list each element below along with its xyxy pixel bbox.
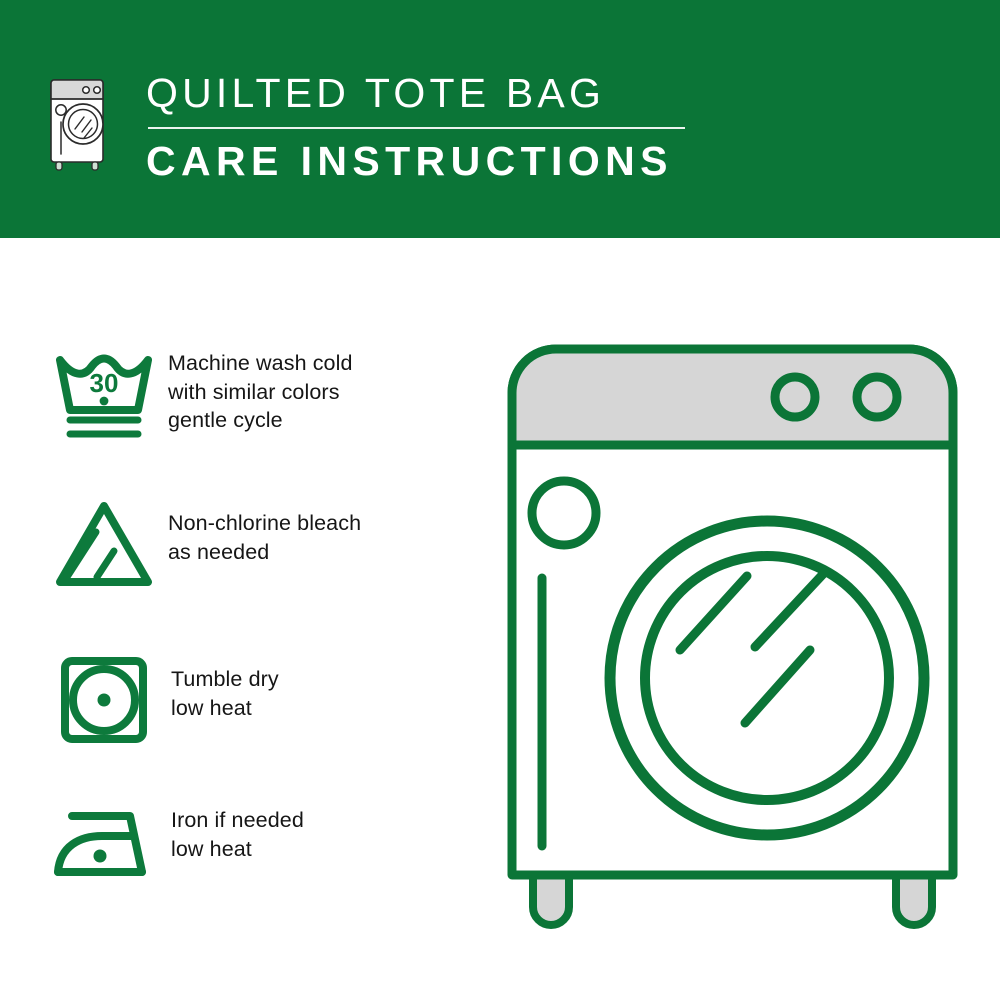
care-line: Machine wash cold — [168, 349, 353, 378]
machine-power-button — [532, 481, 596, 545]
care-label-tumble-dry: Tumble dry low heat — [171, 652, 279, 722]
care-label-iron: Iron if needed low heat — [171, 794, 304, 863]
non-chlorine-bleach-icon — [50, 496, 165, 592]
care-row-tumble-dry: Tumble dry low heat — [50, 652, 470, 748]
care-line: Non-chlorine bleach — [168, 509, 361, 538]
care-line: low heat — [171, 835, 304, 864]
page-subtitle: CARE INSTRUCTIONS — [146, 137, 706, 185]
care-row-machine-wash: 30 Machine wash cold with similar colors… — [50, 348, 470, 444]
machine-door-inner — [645, 556, 889, 800]
care-line: as needed — [168, 538, 361, 567]
care-line: with similar colors — [168, 378, 353, 407]
iron-low-heat-icon — [50, 794, 165, 890]
washing-machine-icon — [44, 66, 110, 174]
care-line: gentle cycle — [168, 406, 353, 435]
page-title: QUILTED TOTE BAG — [146, 68, 706, 118]
care-line: Tumble dry — [171, 665, 279, 694]
header-text-block: QUILTED TOTE BAG CARE INSTRUCTIONS — [146, 68, 706, 185]
header-band: QUILTED TOTE BAG CARE INSTRUCTIONS — [0, 0, 1000, 238]
machine-knob-2 — [857, 377, 897, 417]
wash-temperature-value: 30 — [90, 368, 119, 398]
care-line: low heat — [171, 694, 279, 723]
care-line: Iron if needed — [171, 806, 304, 835]
care-label-machine-wash: Machine wash cold with similar colors ge… — [168, 348, 353, 435]
title-divider — [148, 127, 685, 129]
care-row-iron: Iron if needed low heat — [50, 794, 470, 890]
care-instruction-list: 30 Machine wash cold with similar colors… — [0, 238, 470, 1000]
tumble-dry-low-heat-icon — [50, 652, 165, 748]
machine-knob-1 — [775, 377, 815, 417]
care-instructions-infographic: QUILTED TOTE BAG CARE INSTRUCTIONS 30 — [0, 0, 1000, 1000]
care-row-bleach: Non-chlorine bleach as needed — [50, 496, 470, 592]
front-load-washing-machine-illustration — [495, 333, 970, 938]
care-label-bleach: Non-chlorine bleach as needed — [168, 496, 361, 566]
machine-wash-30-gentle-icon: 30 — [50, 348, 165, 444]
